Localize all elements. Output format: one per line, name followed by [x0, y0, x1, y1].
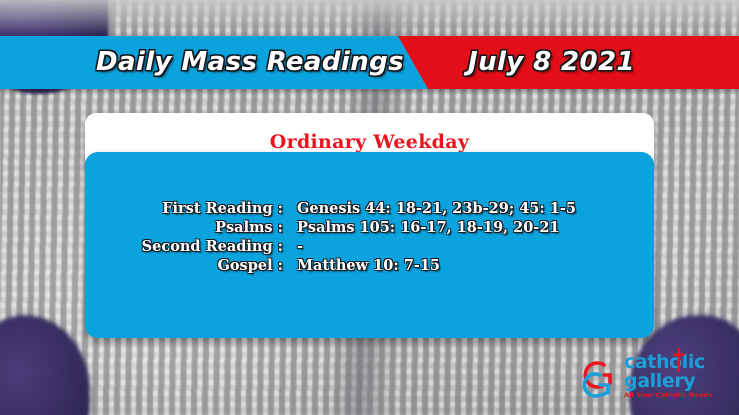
reading-value: Psalms 105: 16-17, 18-19, 20-21 [297, 219, 560, 236]
background-top-shade [0, 0, 739, 34]
logo-tagline: All Your Catholic Needs [624, 391, 730, 399]
reading-value: Matthew 10: 7-15 [297, 257, 440, 274]
reading-label: Psalms : [85, 219, 297, 236]
logo-word-gallery: gallery [624, 372, 730, 390]
reading-row: Gospel : Matthew 10: 7-15 [85, 257, 654, 274]
reading-value: Genesis 44: 18-21, 23b-29; 45: 1-5 [297, 200, 576, 217]
cg-monogram-icon [578, 355, 626, 401]
liturgical-day-title: Ordinary Weekday [270, 131, 469, 153]
crucifix-icon [672, 347, 686, 373]
daily-mass-readings-page: Daily Mass Readings July 8 2021 Ordinary… [0, 0, 739, 415]
reading-label: Second Reading : [85, 238, 297, 255]
banner-date: July 8 2021 [468, 36, 635, 89]
reading-label: Gospel : [85, 257, 297, 274]
header-banner: Daily Mass Readings July 8 2021 [0, 36, 739, 89]
catholic-gallery-logo[interactable]: catholic gallery All Your Catholic Needs [578, 351, 730, 409]
readings-list: First Reading : Genesis 44: 18-21, 23b-2… [85, 200, 654, 276]
banner-title: Daily Mass Readings [96, 36, 404, 89]
reading-value: - [297, 238, 303, 255]
readings-panel: First Reading : Genesis 44: 18-21, 23b-2… [85, 152, 654, 338]
reading-row: Second Reading : - [85, 238, 654, 255]
reading-row: First Reading : Genesis 44: 18-21, 23b-2… [85, 200, 654, 217]
reading-label: First Reading : [85, 200, 297, 217]
reading-row: Psalms : Psalms 105: 16-17, 18-19, 20-21 [85, 219, 654, 236]
